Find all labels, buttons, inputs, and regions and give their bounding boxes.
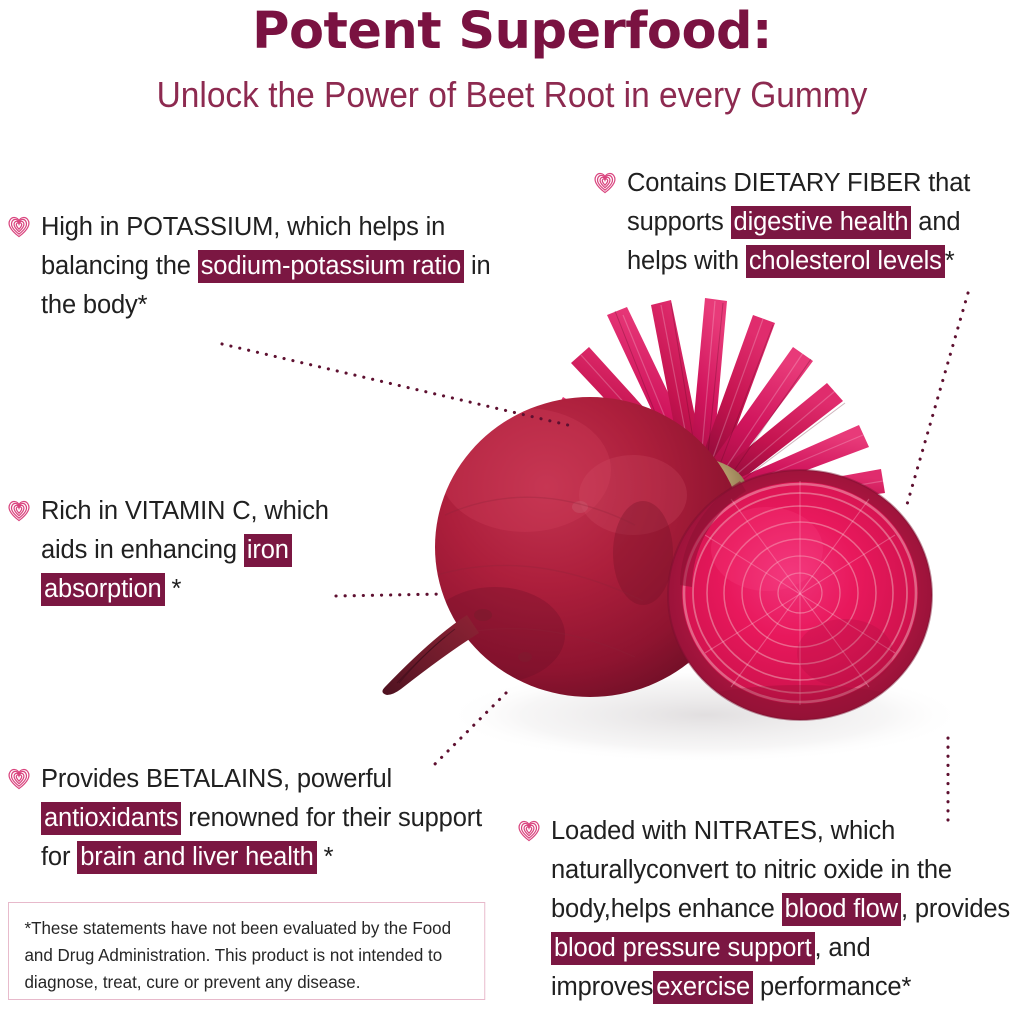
disclaimer-text: *These statements have not been evaluate… bbox=[24, 918, 451, 992]
fact-vitamin-c: Rich in VITAMIN C, which aids in enhanci… bbox=[6, 492, 376, 609]
fact-dietary-fiber-text: Contains DIETARY FIBER that supports dig… bbox=[627, 164, 1024, 281]
highlighted-phrase: iron absorption bbox=[41, 534, 292, 606]
page-title: Potent Superfood: bbox=[0, 2, 1024, 61]
beet-heart-icon bbox=[6, 497, 32, 523]
fact-betalains: Provides BETALAINS, powerful antioxidant… bbox=[6, 760, 506, 877]
fact-betalains-text: Provides BETALAINS, powerful antioxidant… bbox=[41, 760, 506, 877]
highlighted-phrase: blood pressure support bbox=[551, 932, 815, 965]
fact-nitrates-text: Loaded with NITRATES, which naturallycon… bbox=[551, 812, 1024, 1007]
page-subtitle: Unlock the Power of Beet Root in every G… bbox=[36, 74, 988, 116]
fact-nitrates: Loaded with NITRATES, which naturallycon… bbox=[516, 812, 1024, 1007]
highlighted-phrase: cholesterol levels bbox=[746, 245, 945, 278]
fact-potassium-text: High in POTASSIUM, which helps in balanc… bbox=[41, 208, 506, 325]
fact-potassium: High in POTASSIUM, which helps in balanc… bbox=[6, 208, 506, 325]
highlighted-phrase: blood flow bbox=[782, 893, 901, 926]
highlighted-phrase: sodium-potassium ratio bbox=[198, 250, 464, 283]
highlighted-phrase: antioxidants bbox=[41, 802, 181, 835]
beet-heart-icon bbox=[592, 169, 618, 195]
infographic-root: Potent Superfood: Unlock the Power of Be… bbox=[0, 0, 1024, 1010]
fact-dietary-fiber: Contains DIETARY FIBER that supports dig… bbox=[592, 164, 1024, 281]
beet-heart-icon bbox=[516, 817, 542, 843]
beet-heart-icon bbox=[6, 213, 32, 239]
highlighted-phrase: brain and liver health bbox=[77, 841, 316, 874]
highlighted-phrase: exercise bbox=[653, 971, 753, 1004]
beet-heart-icon bbox=[6, 765, 32, 791]
beet-root-image bbox=[375, 285, 985, 775]
fact-vitamin-c-text: Rich in VITAMIN C, which aids in enhanci… bbox=[41, 492, 376, 609]
highlighted-phrase: digestive health bbox=[731, 206, 912, 239]
disclaimer-box: *These statements have not been evaluate… bbox=[8, 902, 485, 1000]
